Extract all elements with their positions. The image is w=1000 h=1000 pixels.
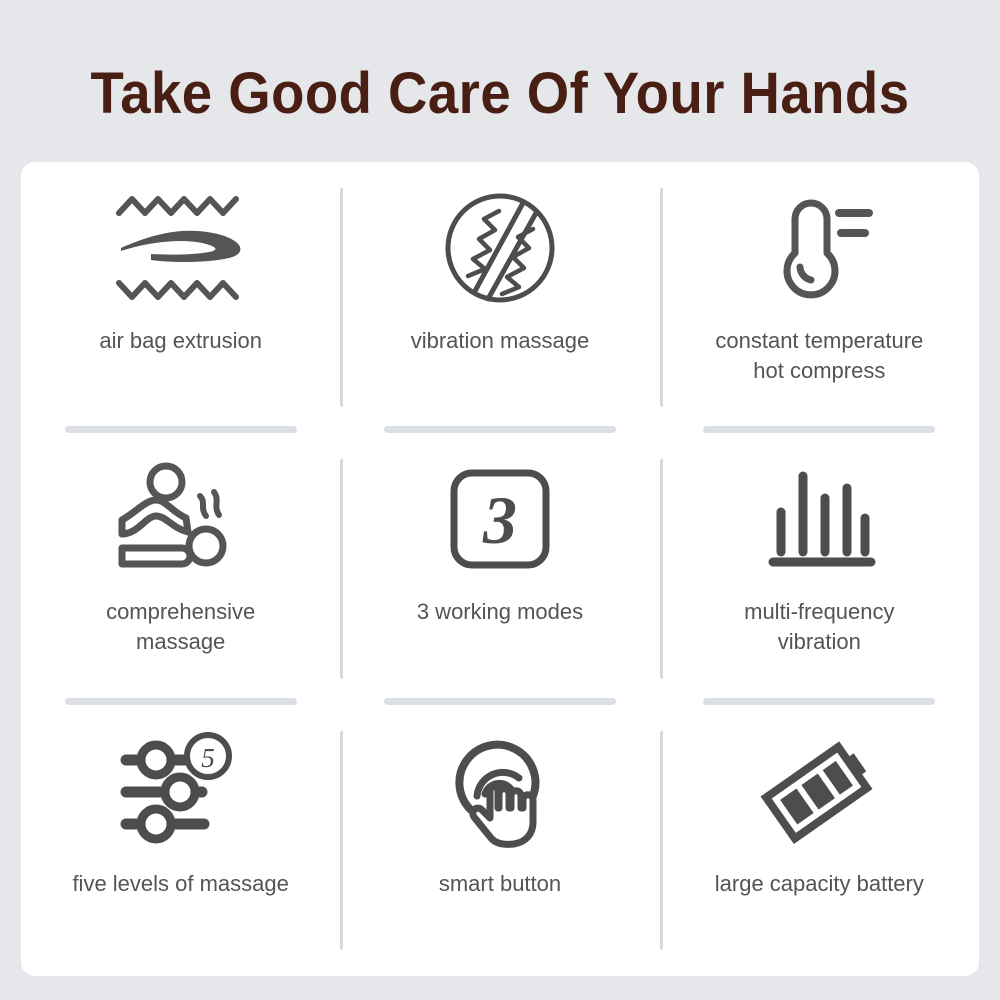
svg-text:3: 3 xyxy=(482,482,517,558)
feature-label: large capacity battery xyxy=(715,869,924,899)
circle-zigzag-icon xyxy=(441,184,559,312)
feature-cell-smart-button: smart button xyxy=(340,705,659,976)
feature-cell-multi-frequency-vibration: multi-frequency vibration xyxy=(660,433,979,704)
number-three-box-icon: 3 xyxy=(448,455,552,583)
slider-level-badge: 5 xyxy=(201,743,215,773)
feature-cell-large-capacity-battery: large capacity battery xyxy=(660,705,979,976)
feature-label: 3 working modes xyxy=(417,597,583,627)
feature-cell-3-working-modes: 3 3 working modes xyxy=(340,433,659,704)
frequency-bars-icon xyxy=(759,455,879,583)
thermometer-icon xyxy=(759,184,879,312)
features-grid: air bag extrusion vibration massage xyxy=(21,162,979,976)
feature-label: comprehensive massage xyxy=(106,597,255,657)
feature-label: vibration massage xyxy=(411,326,590,356)
sliders-icon: 5 xyxy=(116,727,246,855)
feature-cell-vibration-massage: vibration massage xyxy=(340,162,659,433)
feature-label: five levels of massage xyxy=(72,869,288,899)
battery-icon xyxy=(756,727,882,855)
feature-label: multi-frequency vibration xyxy=(744,597,894,657)
page-title: Take Good Care Of Your Hands xyxy=(30,58,970,130)
feature-cell-constant-temperature: constant temperature hot compress xyxy=(660,162,979,433)
features-card: air bag extrusion vibration massage xyxy=(21,162,979,976)
massage-table-icon xyxy=(116,455,246,583)
feature-cell-five-levels-of-massage: 5 five levels of massage xyxy=(21,705,340,976)
feature-cell-comprehensive-massage: comprehensive massage xyxy=(21,433,340,704)
hand-with-waves-icon xyxy=(111,184,251,312)
feature-cell-air-bag-extrusion: air bag extrusion xyxy=(21,162,340,433)
infographic-page: Take Good Care Of Your Hands air bag ext… xyxy=(0,0,1000,1000)
feature-label: constant temperature hot compress xyxy=(715,326,923,386)
feature-label: smart button xyxy=(439,869,561,899)
feature-label: air bag extrusion xyxy=(99,326,262,356)
tap-hand-icon xyxy=(441,727,559,855)
